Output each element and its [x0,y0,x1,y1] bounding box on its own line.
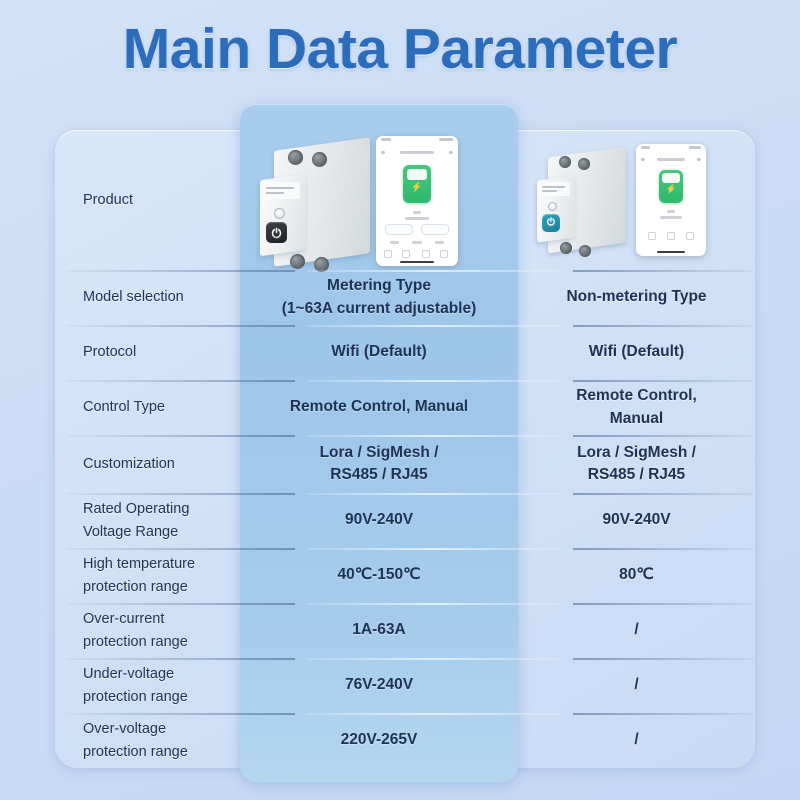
table-row: Under-voltage protection range 76V-240V … [55,658,755,713]
label-line-2: Voltage Range [83,521,189,543]
row-label-model-selection: Model selection [55,270,240,325]
value-protocol-non-metering: Wifi (Default) [518,325,755,380]
value-customization-metering: Lora / SigMesh / RS485 / RJ45 [240,435,518,493]
value-line-1: Remote Control, [576,385,697,407]
row-divider [67,270,295,272]
row-divider [307,493,561,495]
page-title: Main Data Parameter [0,16,800,82]
power-button-icon: ⏻ [542,214,560,232]
table-row: Protocol Wifi (Default) Wifi (Default) [55,325,755,380]
table-row: High temperature protection range 40℃-15… [55,548,755,603]
row-divider [573,435,753,437]
value-high-temperature-metering: 40℃-150℃ [240,548,518,603]
value-model-selection-metering: Metering Type (1~63A current adjustable) [240,270,518,325]
row-divider [67,658,295,660]
value-over-current-non-metering: / [518,603,755,658]
row-label-over-current-protection-range: Over-current protection range [55,603,240,658]
label-line-2: protection range [83,686,188,708]
label-line-1: High temperature [83,553,195,575]
table-row: Over-voltage protection range 220V-265V … [55,713,755,768]
product-image-non-metering: ⏻ ⚡ [518,130,755,270]
row-label-control-type: Control Type [55,380,240,435]
value-over-current-metering: 1A-63A [240,603,518,658]
row-divider [573,325,753,327]
row-label-customization: Customization [55,435,240,493]
product-image-metering: ⏻ ⚡ [240,130,518,270]
row-label-high-temperature-protection-range: High temperature protection range [55,548,240,603]
row-divider [307,325,561,327]
row-label-under-voltage-protection-range: Under-voltage protection range [55,658,240,713]
table-row: Product ⏻ [55,130,755,270]
table-row: Over-current protection range 1A-63A / [55,603,755,658]
value-under-voltage-metering: 76V-240V [240,658,518,713]
row-label-over-voltage-protection-range: Over-voltage protection range [55,713,240,768]
row-divider [573,603,753,605]
row-label-rated-operating-voltage-range: Rated Operating Voltage Range [55,493,240,548]
row-divider [307,548,561,550]
value-line-1: Lora / SigMesh / [320,442,439,464]
value-line-2: (1~63A current adjustable) [282,298,477,320]
row-divider [573,270,753,272]
row-divider [307,713,561,715]
value-line-2: Manual [576,408,697,430]
table-row: Model selection Metering Type (1~63A cur… [55,270,755,325]
value-line-1: Lora / SigMesh / [577,442,696,464]
value-over-voltage-metering: 220V-265V [240,713,518,768]
row-divider [67,380,295,382]
value-line-2: RS485 / RJ45 [577,464,696,486]
row-divider [307,658,561,660]
row-divider [67,493,295,495]
spec-table: Product ⏻ [55,130,755,768]
table-row: Control Type Remote Control, Manual Remo… [55,380,755,435]
phone-mockup-metering: ⚡ [376,136,458,266]
label-line-2: protection range [83,631,188,653]
label-line-1: Over-voltage [83,718,188,740]
row-label-product: Product [55,130,240,270]
value-control-type-non-metering: Remote Control, Manual [518,380,755,435]
power-button-icon: ⏻ [266,222,287,243]
row-divider [307,380,561,382]
row-divider [67,603,295,605]
value-line-2: RS485 / RJ45 [320,464,439,486]
phone-mockup-non-metering: ⚡ [636,144,706,256]
value-customization-non-metering: Lora / SigMesh / RS485 / RJ45 [518,435,755,493]
row-divider [67,325,295,327]
value-over-voltage-non-metering: / [518,713,755,768]
value-protocol-metering: Wifi (Default) [240,325,518,380]
row-divider [307,270,561,272]
value-model-selection-non-metering: Non-metering Type [518,270,755,325]
value-rated-voltage-non-metering: 90V-240V [518,493,755,548]
row-divider [573,380,753,382]
row-label-protocol: Protocol [55,325,240,380]
row-divider [67,548,295,550]
label-line-2: protection range [83,576,195,598]
table-row: Customization Lora / SigMesh / RS485 / R… [55,435,755,493]
row-divider [307,435,561,437]
value-line-1: Metering Type [282,275,477,297]
label-line-1: Under-voltage [83,663,188,685]
row-divider [307,603,561,605]
row-divider [573,548,753,550]
value-rated-voltage-metering: 90V-240V [240,493,518,548]
row-divider [573,493,753,495]
value-under-voltage-non-metering: / [518,658,755,713]
row-divider [67,435,295,437]
row-divider [573,658,753,660]
label-line-1: Over-current [83,608,188,630]
value-high-temperature-non-metering: 80℃ [518,548,755,603]
table-row: Rated Operating Voltage Range 90V-240V 9… [55,493,755,548]
row-divider [67,713,295,715]
value-control-type-metering: Remote Control, Manual [240,380,518,435]
row-divider [573,713,753,715]
label-line-2: protection range [83,741,188,763]
label-line-1: Rated Operating [83,498,189,520]
